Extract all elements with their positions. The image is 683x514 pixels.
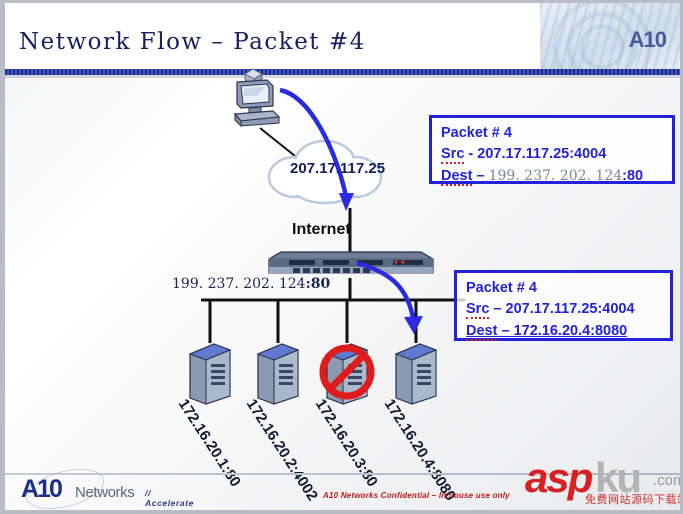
packet-box-2-src-line: Src – 207.17.117.25:4004 <box>466 299 670 320</box>
a10-logo-mark: A10 <box>21 475 61 504</box>
vip-address-text: 199. 237. 202. 124 <box>172 276 306 292</box>
slide-header: A10 Network Flow – Packet #4 <box>5 3 680 69</box>
dest-separator: – <box>476 168 488 184</box>
src-label: Src <box>441 146 464 164</box>
dest-label: Dest <box>466 323 497 341</box>
packet-box-1-src-line: Src - 207.17.117.25:4004 <box>441 144 672 165</box>
vip-port-text: :80 <box>306 276 331 292</box>
src-separator: – <box>493 301 505 317</box>
watermark-chinese-text: 免费网站源码下载站! <box>585 491 683 507</box>
dest-label: Dest <box>441 168 472 186</box>
packet-box-2-title: Packet # 4 <box>466 278 670 299</box>
dest-port: :80 <box>622 168 643 184</box>
src-label: Src <box>466 301 489 319</box>
dest-value: 172.16.20.4:8080 <box>514 323 628 339</box>
dest-value: 199. 237. 202. 124 <box>489 168 623 184</box>
client-ip-label: 207.17.117.25 <box>290 160 385 177</box>
dest-separator: – <box>501 323 513 339</box>
vip-address-label: 199. 237. 202. 124:80 <box>172 276 330 292</box>
src-value: 207.17.117.25:4004 <box>477 146 606 162</box>
packet-box-1-title: Packet # 4 <box>441 123 672 144</box>
a10-header-logo-icon: A10 <box>629 27 666 53</box>
watermark-com-text: .com <box>653 472 683 489</box>
src-value: 207.17.117.25:4004 <box>506 301 635 317</box>
internet-cloud-label: Internet <box>292 221 351 239</box>
packet-box-2-dest-line: Dest – 172.16.20.4:8080 <box>466 321 670 342</box>
slide-canvas: A10 Network Flow – Packet #4 <box>0 0 683 514</box>
a10-logo-word: Networks <box>75 484 134 501</box>
watermark-asp-text: asp <box>525 454 591 502</box>
packet-info-box-2: Packet # 4 Src – 207.17.117.25:4004 Dest… <box>454 270 673 341</box>
a10-tagline: // Accelerate • Optimize • Secure // <box>145 488 194 514</box>
packet-info-box-1: Packet # 4 Src - 207.17.117.25:4004 Dest… <box>429 115 675 184</box>
confidential-notice: A10 Networks Confidential – In house use… <box>323 491 510 500</box>
page-title: Network Flow – Packet #4 <box>19 29 366 55</box>
aspku-watermark: asp ku .com 免费网站源码下载站! <box>525 458 683 510</box>
src-separator: - <box>468 146 477 162</box>
header-decoration-graphic: A10 <box>540 3 680 69</box>
packet-box-1-dest-line: Dest – 199. 237. 202. 124:80 <box>441 166 672 187</box>
